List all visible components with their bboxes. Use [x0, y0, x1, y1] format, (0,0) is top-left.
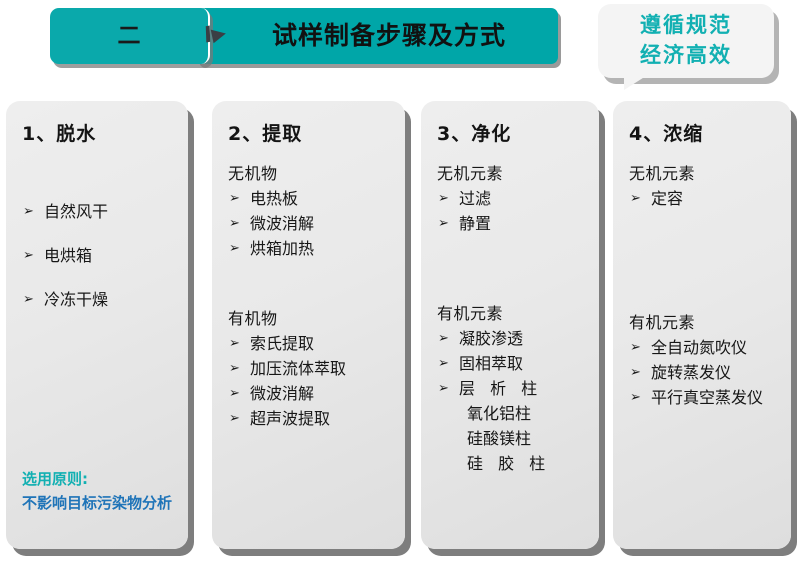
section-number-badge: 二: [50, 8, 210, 64]
section-title-bar: 试样制备步骤及方式: [196, 8, 558, 64]
list-item[interactable]: 超声波提取: [228, 406, 395, 431]
list-item[interactable]: 烘箱加热: [228, 236, 395, 261]
callout-line-1: 遵循规范: [598, 10, 774, 40]
callout-line-2: 经济高效: [598, 40, 774, 70]
step-group-organic: 有机元素 全自动氮吹仪 旋转蒸发仪 平行真空蒸发仪: [629, 309, 781, 410]
step-group-inorganic: 无机元素 过滤 静置: [437, 160, 589, 236]
group-heading: 无机元素: [629, 160, 781, 184]
step-group-inorganic: 无机物 电热板 微波消解 烘箱加热: [228, 160, 395, 261]
step-card-dehydration[interactable]: 1、脱水 自然风干 电烘箱 冷冻干燥 选用原则: 不影响目标污染物分析: [6, 101, 188, 549]
principle-label: 选用原则:: [22, 468, 182, 491]
group-heading: 有机元素: [629, 309, 781, 333]
step-item-list: 全自动氮吹仪 旋转蒸发仪 平行真空蒸发仪: [629, 335, 781, 410]
list-item[interactable]: 过滤: [437, 186, 589, 211]
list-item[interactable]: 索氏提取: [228, 331, 395, 356]
callout-bubble-tail: [624, 76, 646, 90]
section-number-label: 二: [50, 8, 208, 64]
list-item[interactable]: 自然风干: [22, 190, 178, 234]
group-heading: 无机物: [228, 160, 395, 184]
step-item-list: 电热板 微波消解 烘箱加热: [228, 186, 395, 261]
step-title: 1、脱水: [22, 119, 178, 146]
list-item[interactable]: 加压流体萃取: [228, 356, 395, 381]
callout-text: 遵循规范 经济高效: [598, 10, 774, 70]
arrow-right-icon-tail: [206, 25, 210, 42]
list-item[interactable]: 旋转蒸发仪: [629, 360, 781, 385]
list-item[interactable]: 静置: [437, 211, 589, 236]
step-title: 3、净化: [437, 119, 589, 146]
group-heading: 无机元素: [437, 160, 589, 184]
principle-body: 不影响目标污染物分析: [22, 492, 182, 515]
group-heading: 有机元素: [437, 300, 589, 324]
sub-list-item[interactable]: 氧化铝柱: [437, 401, 589, 426]
list-item[interactable]: 全自动氮吹仪: [629, 335, 781, 360]
arrow-right-icon: [211, 27, 228, 44]
steps-container: 1、脱水 自然风干 电烘箱 冷冻干燥 选用原则: 不影响目标污染物分析 2、提取…: [0, 99, 800, 573]
sub-list-item[interactable]: 硅酸镁柱: [437, 426, 589, 451]
step-card-extraction[interactable]: 2、提取 无机物 电热板 微波消解 烘箱加热 有机物 索氏提取 加压流体萃取 微…: [212, 101, 405, 549]
list-item[interactable]: 冷冻干燥: [22, 278, 178, 322]
step-group-organic: 有机元素 凝胶渗透 固相萃取 层 析 柱 氧化铝柱 硅酸镁柱 硅 胶 柱: [437, 300, 589, 476]
list-item[interactable]: 电热板: [228, 186, 395, 211]
list-item[interactable]: 固相萃取: [437, 351, 589, 376]
list-item[interactable]: 凝胶渗透: [437, 326, 589, 351]
step-title: 4、浓缩: [629, 119, 781, 146]
sub-list-item[interactable]: 硅 胶 柱: [437, 451, 589, 476]
step-item-list: 索氏提取 加压流体萃取 微波消解 超声波提取: [228, 331, 395, 431]
step-card-purification[interactable]: 3、净化 无机元素 过滤 静置 有机元素 凝胶渗透 固相萃取 层 析 柱 氧化铝…: [421, 101, 599, 549]
group-heading: 有机物: [228, 305, 395, 329]
step-item-list: 凝胶渗透 固相萃取 层 析 柱 氧化铝柱 硅酸镁柱 硅 胶 柱: [437, 326, 589, 476]
step-group: 自然风干 电烘箱 冷冻干燥: [22, 190, 178, 322]
step-item-list: 自然风干 电烘箱 冷冻干燥: [22, 190, 178, 322]
step-item-list: 定容: [629, 186, 781, 211]
step-group-organic: 有机物 索氏提取 加压流体萃取 微波消解 超声波提取: [228, 305, 395, 431]
list-item[interactable]: 微波消解: [228, 381, 395, 406]
page-header: 试样制备步骤及方式 二 遵循规范 经济高效: [0, 0, 800, 96]
list-item[interactable]: 平行真空蒸发仪: [629, 385, 781, 410]
step-card-concentration[interactable]: 4、浓缩 无机元素 定容 有机元素 全自动氮吹仪 旋转蒸发仪 平行真空蒸发仪: [613, 101, 791, 549]
step-item-list: 过滤 静置: [437, 186, 589, 236]
step-title: 2、提取: [228, 119, 395, 146]
page-title: 试样制备步骤及方式: [272, 8, 506, 64]
list-item[interactable]: 层 析 柱: [437, 376, 589, 401]
list-item[interactable]: 微波消解: [228, 211, 395, 236]
list-item[interactable]: 电烘箱: [22, 234, 178, 278]
list-item[interactable]: 定容: [629, 186, 781, 211]
step-group-inorganic: 无机元素 定容: [629, 160, 781, 211]
callout-bubble: 遵循规范 经济高效: [598, 4, 774, 78]
principle-note: 选用原则: 不影响目标污染物分析: [22, 468, 182, 515]
